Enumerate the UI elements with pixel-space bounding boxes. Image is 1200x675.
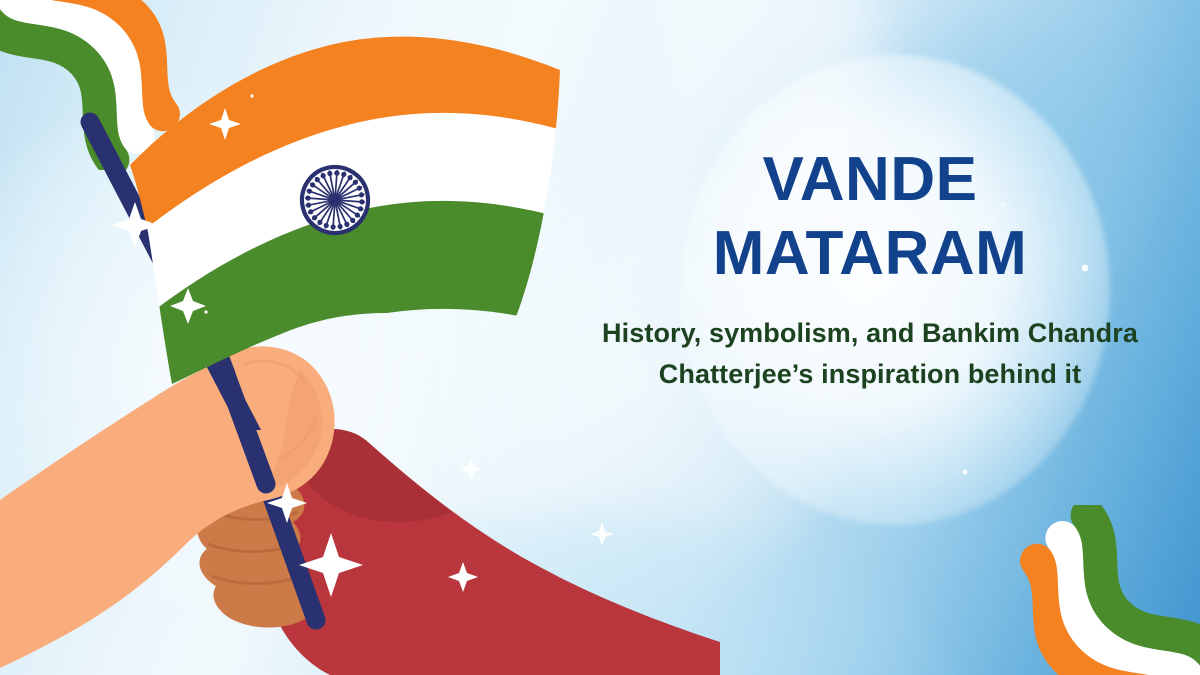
corner-ribbon-bottom-right [966,500,1200,675]
subtitle-line-2: Chatterjee’s inspiration behind it [560,354,1180,395]
page-title: VANDE MATARAM [560,148,1180,287]
poster-canvas: VANDE MATARAM History, symbolism, and Ba… [0,0,1200,675]
subtitle: History, symbolism, and Bankim Chandra C… [560,313,1180,395]
flag-bands [100,25,620,430]
subtitle-line-1: History, symbolism, and Bankim Chandra [560,313,1180,354]
headline-line-2: MATARAM [560,222,1180,286]
text-block: VANDE MATARAM History, symbolism, and Ba… [560,148,1180,395]
headline-line-1: VANDE [560,148,1180,212]
indian-flag-illustration [60,10,620,435]
